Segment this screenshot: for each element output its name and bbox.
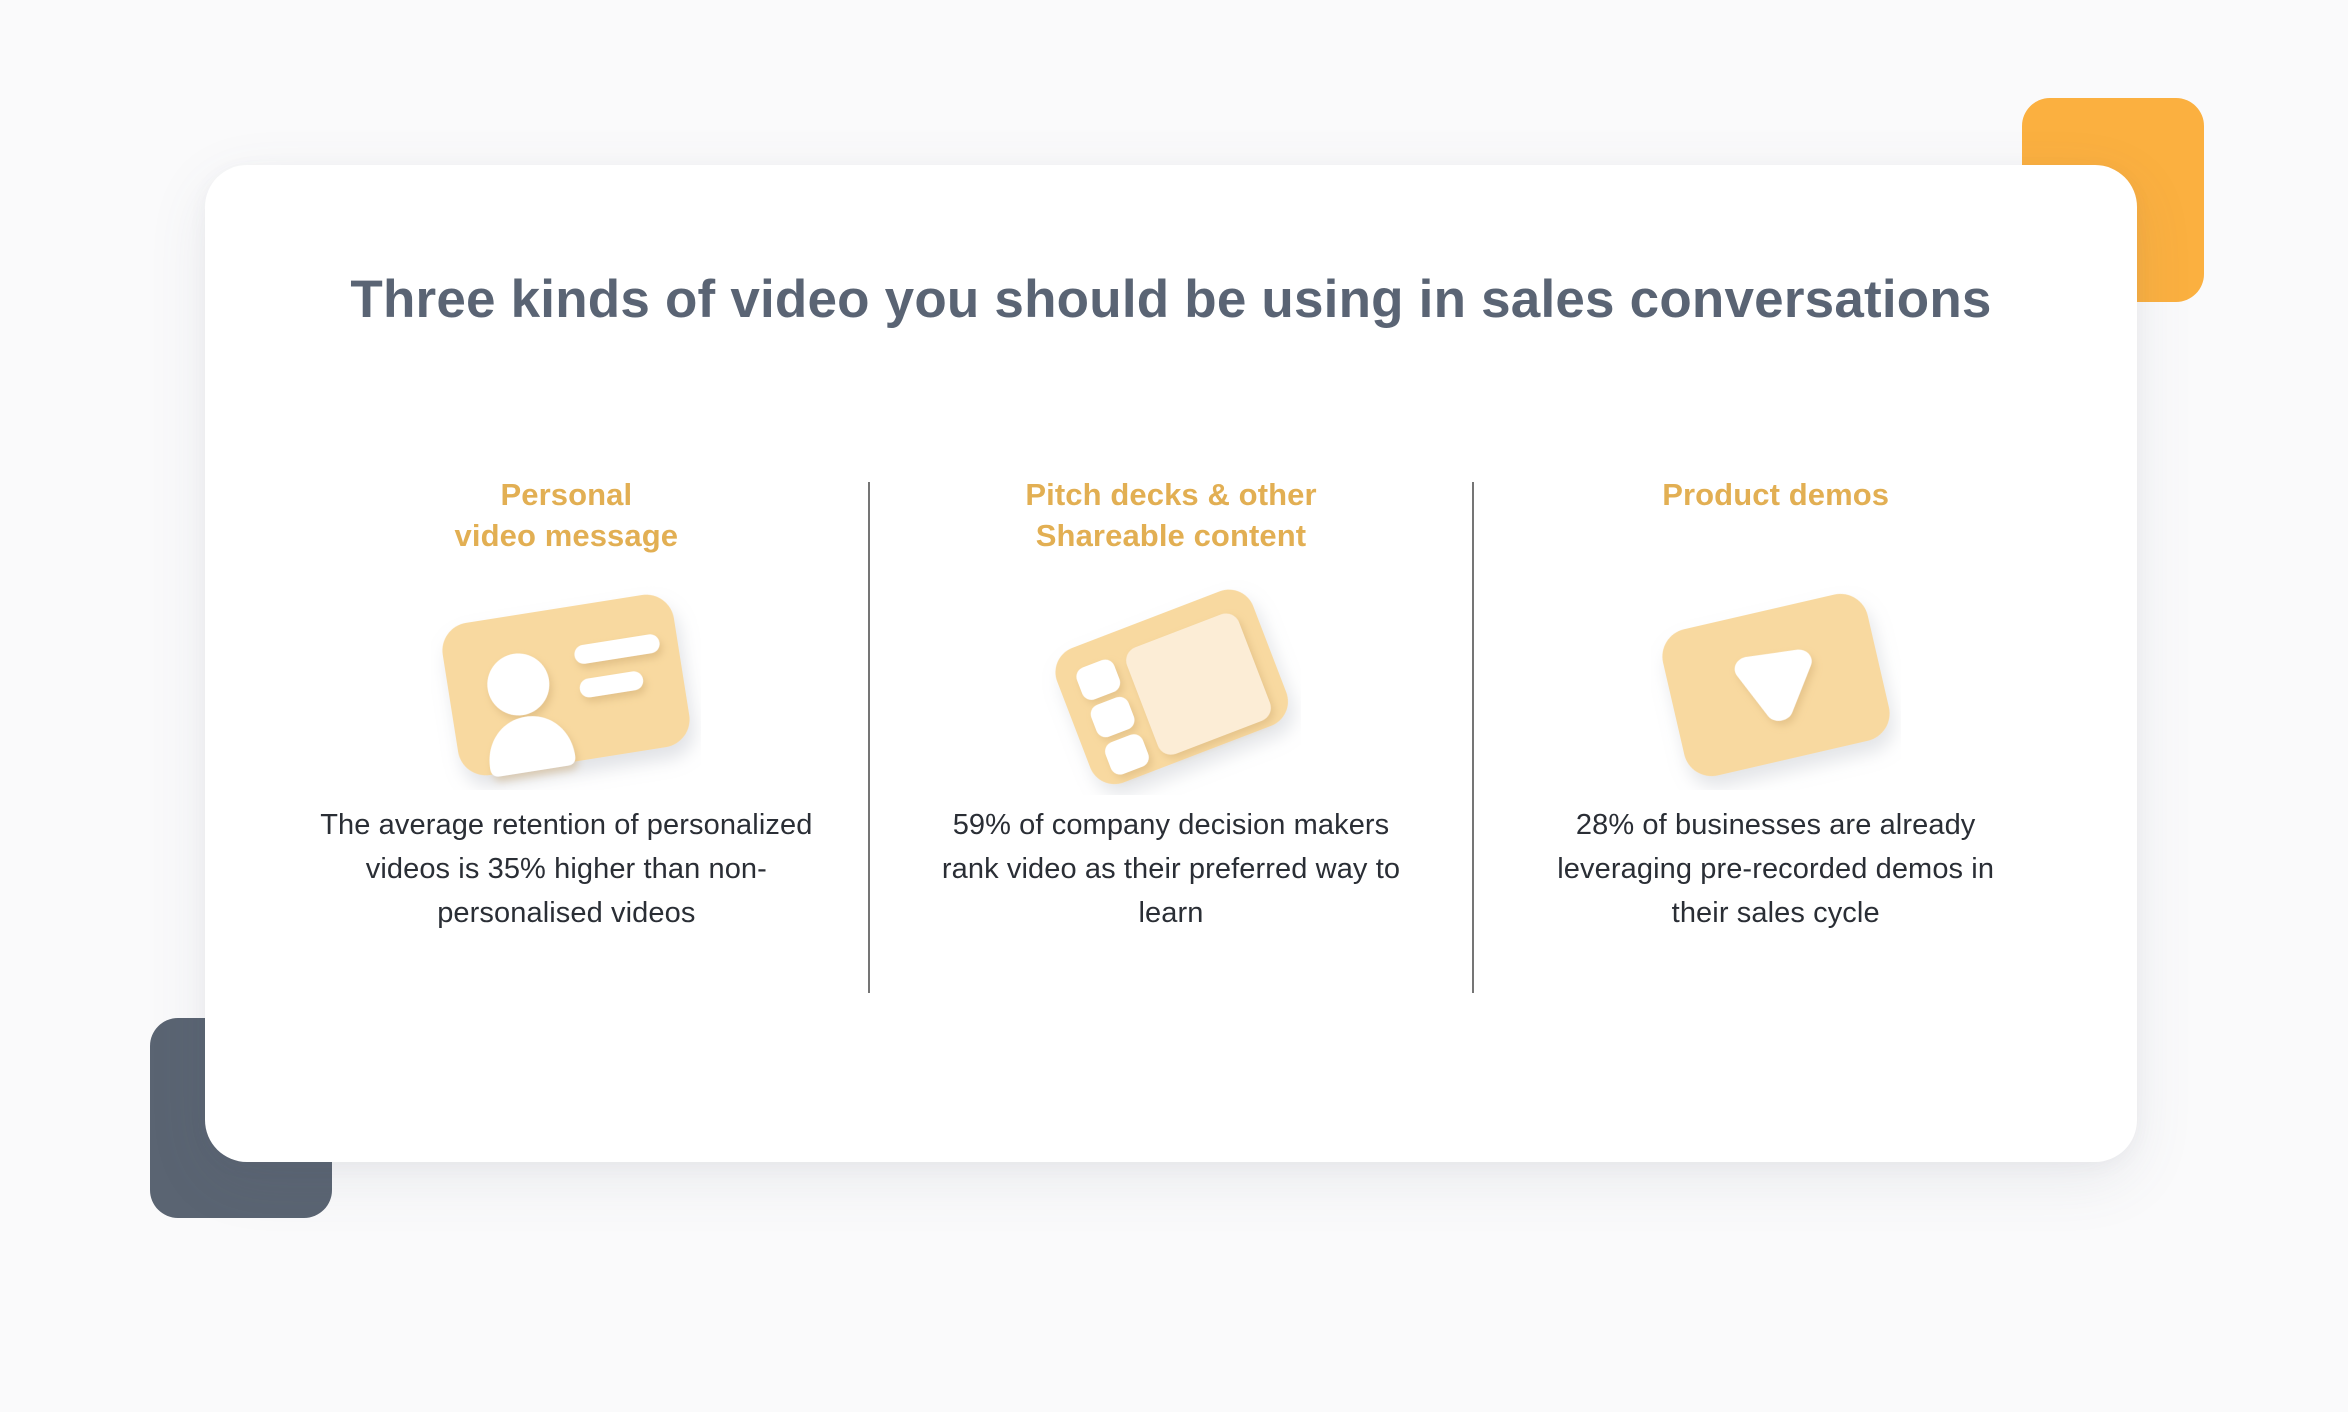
infographic-card: Three kinds of video you should be using… (205, 165, 2137, 1162)
column-product-demos: Product demos (1474, 475, 2077, 1035)
page-title: Three kinds of video you should be using… (205, 269, 2137, 330)
columns-container: Personal video message (265, 475, 2077, 1035)
column-personal-video-message: Personal video message (265, 475, 868, 1035)
personal-video-message-icon (431, 580, 701, 790)
column-heading: Product demos (1662, 475, 1889, 563)
column-body-text: 59% of company decision makers rank vide… (921, 803, 1421, 935)
icon-container (894, 567, 1449, 803)
column-heading-line1: Pitch decks & other (1025, 475, 1316, 516)
column-heading-line1: Personal (455, 475, 679, 516)
column-heading: Pitch decks & other Shareable content (1025, 475, 1316, 563)
column-pitch-decks: Pitch decks & other Shareable content (870, 475, 1473, 1035)
column-heading: Personal video message (455, 475, 679, 563)
column-body-text: 28% of businesses are already leveraging… (1526, 803, 2026, 935)
pitch-deck-slides-icon (1041, 575, 1301, 795)
play-button-video-icon (1651, 580, 1901, 790)
icon-container (289, 567, 844, 803)
column-heading-line2: video message (455, 516, 679, 557)
icon-container (1498, 567, 2053, 803)
column-heading-line1: Product demos (1662, 475, 1889, 516)
column-body-text: The average retention of personalized vi… (316, 803, 816, 935)
column-heading-line2: Shareable content (1025, 516, 1316, 557)
